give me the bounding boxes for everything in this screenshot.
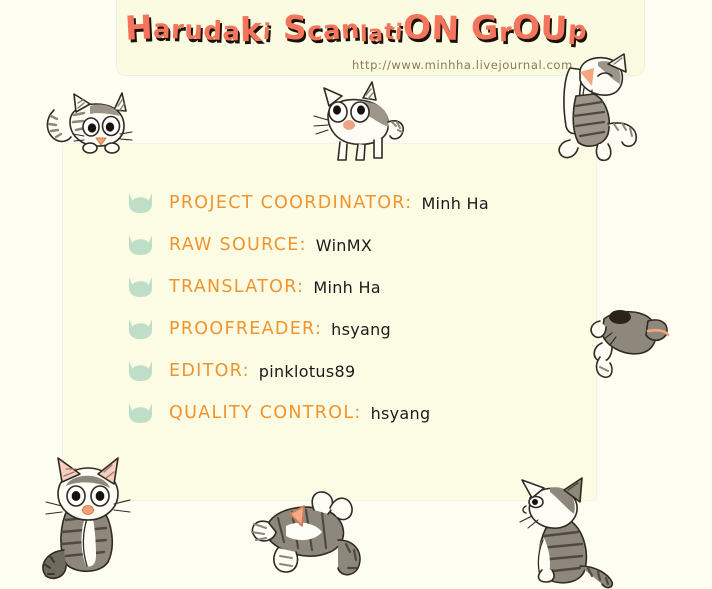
title-part-9: ON (402, 7, 460, 48)
page-title: Harudaki ScanlatiON GrOUp (0, 8, 712, 47)
list-item: RAW SOURCE: WinMX (128, 224, 588, 266)
cat-rolling-bottom-center (242, 482, 382, 587)
credit-name: WinMX (316, 236, 372, 255)
credit-role: PROOFREADER: (169, 319, 322, 339)
credit-name: hsyang (331, 320, 391, 339)
cat-head-icon (128, 234, 153, 256)
cat-sitting-bottom-left (32, 452, 152, 582)
credit-role: QUALITY CONTROL: (169, 403, 362, 423)
title-part-6: can (306, 15, 360, 48)
list-item: PROOFREADER: hsyang (128, 308, 588, 350)
cat-standing-top-center (306, 72, 416, 167)
website-url: http://www.minhha.livejournal.com (352, 58, 573, 72)
credit-role: TRANSLATOR: (169, 277, 304, 297)
title-part-13: p (567, 15, 588, 46)
credit-name: Minh Ha (313, 278, 381, 297)
cat-head-icon (128, 192, 153, 214)
title-part-1: H (124, 7, 154, 47)
list-item: EDITOR: pinklotus89 (128, 350, 588, 392)
title-part-7: la (360, 22, 384, 47)
credit-role: RAW SOURCE: (169, 235, 307, 255)
cat-looking-up-bottom-right (512, 470, 627, 589)
cat-head-icon (128, 402, 153, 424)
title-part-12: OU (512, 7, 569, 48)
title-part-8: ti (383, 19, 404, 45)
cat-head-icon (128, 318, 153, 340)
list-item: PROJECT COORDINATOR: Minh Ha (128, 182, 588, 224)
cat-lying-right (586, 295, 686, 385)
cat-stretching-top-right (546, 50, 666, 170)
credit-name: Minh Ha (421, 194, 489, 213)
title-part-10: G (470, 7, 500, 47)
list-item: TRANSLATOR: Minh Ha (128, 266, 588, 308)
list-item: QUALITY CONTROL: hsyang (128, 392, 588, 434)
title-part-5: S (282, 8, 308, 48)
scanlation-credits-page: Harudaki ScanlatiON GrOUp http://www.min… (0, 0, 712, 589)
credit-role: PROJECT COORDINATOR: (169, 193, 412, 213)
credits-list: PROJECT COORDINATOR: Minh Ha RAW SOURCE:… (128, 182, 588, 434)
cat-peeking-top-left (40, 82, 150, 172)
credit-name: pinklotus89 (259, 362, 356, 381)
credit-name: hsyang (371, 404, 431, 423)
title-part-3: k (240, 10, 263, 49)
cat-head-icon (128, 276, 153, 298)
cat-head-icon (128, 360, 153, 382)
credit-role: EDITOR: (169, 361, 250, 381)
title-part-4: i (262, 20, 272, 46)
title-part-2: aruda (152, 14, 241, 47)
